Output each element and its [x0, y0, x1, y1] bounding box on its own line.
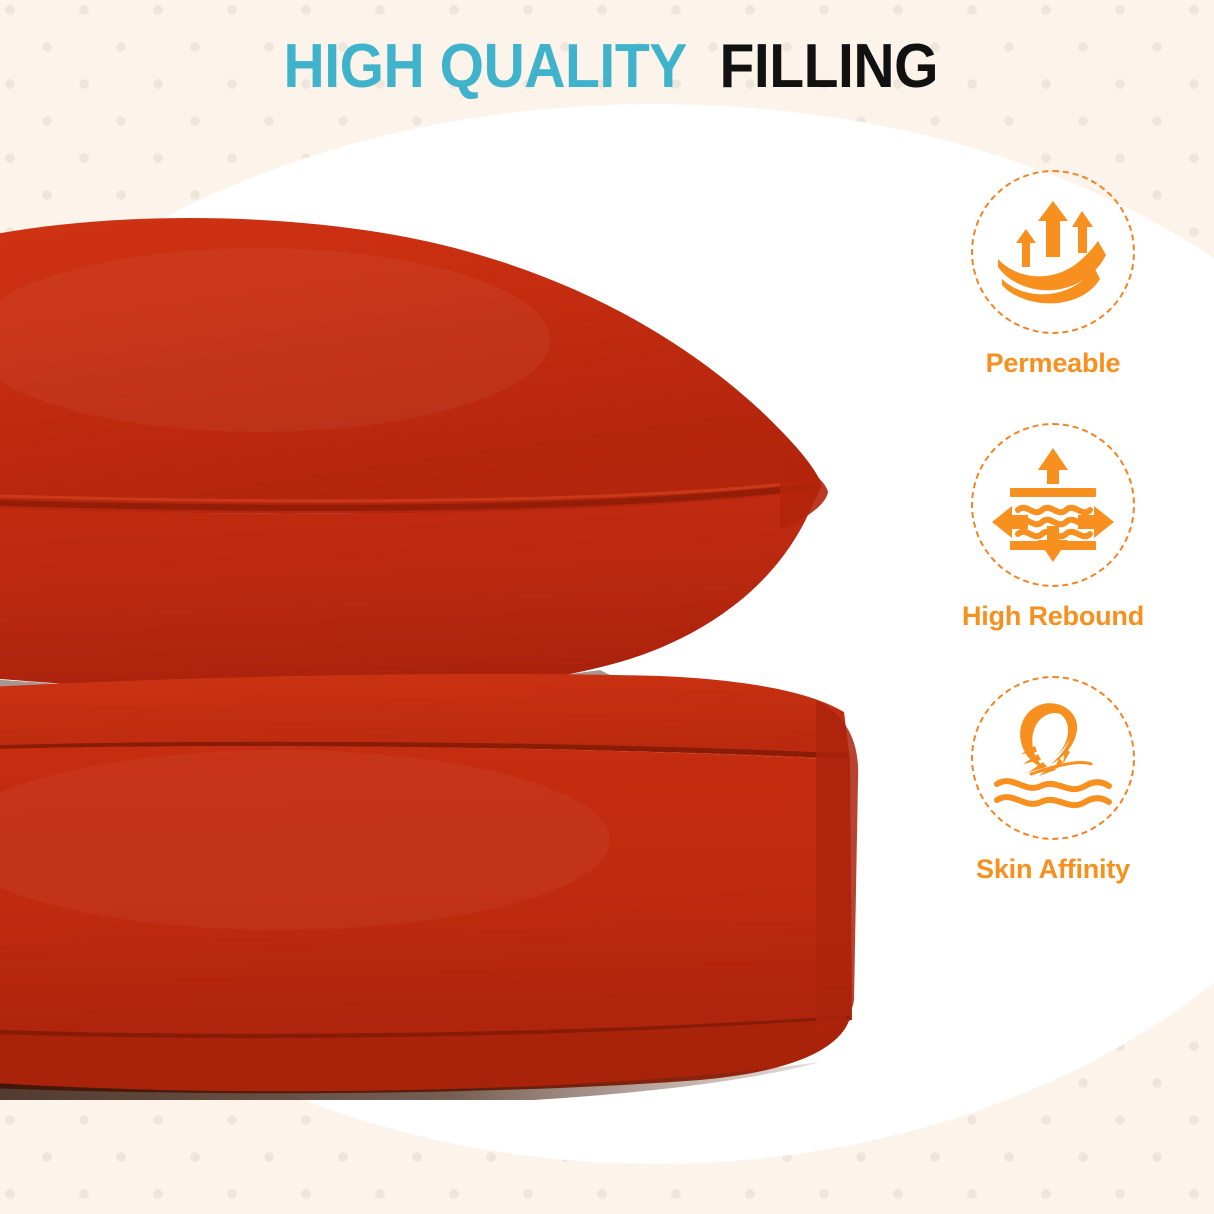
- product-image-pillow-stack: [0, 200, 880, 1100]
- bottom-pillow: [0, 674, 858, 1093]
- feature-list: Permeable: [918, 170, 1188, 929]
- infographic-canvas: HIGH QUALITYFILLING: [0, 0, 1214, 1214]
- bottom-pillow-corner: [816, 700, 858, 1034]
- pillow-illustration: [0, 200, 880, 1100]
- feature-item-permeable[interactable]: Permeable: [918, 170, 1188, 379]
- feature-label-skin-affinity: Skin Affinity: [918, 854, 1188, 885]
- feature-badge-high-rebound: [971, 423, 1135, 587]
- feature-label-permeable: Permeable: [918, 348, 1188, 379]
- rebound-arrows-waves-icon: [992, 446, 1114, 564]
- top-pillow-lower: [0, 490, 818, 695]
- breathable-arrows-icon: [994, 197, 1112, 307]
- feature-badge-skin-affinity: [971, 676, 1135, 840]
- page-title: HIGH QUALITYFILLING: [0, 36, 1214, 98]
- feature-item-skin-affinity[interactable]: Skin Affinity: [918, 676, 1188, 885]
- feature-label-high-rebound: High Rebound: [918, 601, 1188, 632]
- feature-badge-permeable: [971, 170, 1135, 334]
- page-title-accent: HIGH QUALITY: [284, 36, 687, 98]
- feather-waves-icon: [991, 696, 1115, 820]
- top-pillow: [0, 218, 828, 695]
- page-title-dark: FILLING: [720, 36, 939, 98]
- feature-item-high-rebound[interactable]: High Rebound: [918, 423, 1188, 632]
